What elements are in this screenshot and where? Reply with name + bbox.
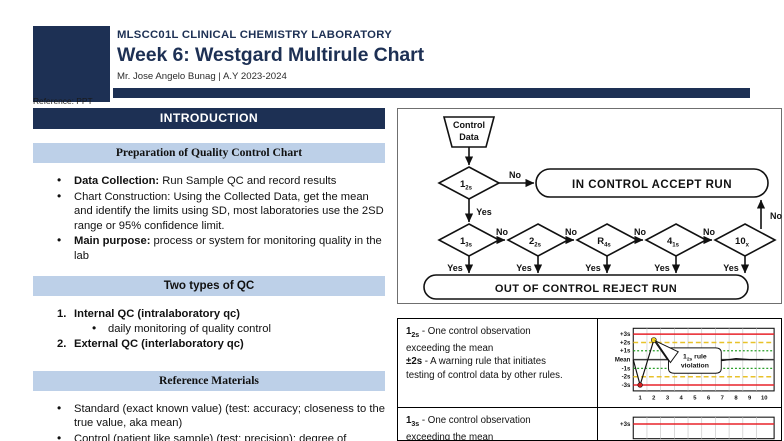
lj-xlabel: 5: [693, 396, 697, 402]
qc-sub-list: daily monitoring of quality control: [74, 322, 385, 337]
header-text-group: MLSCC01L CLINICAL CHEMISTRY LABORATORY W…: [117, 28, 757, 83]
list-item: Data Collection: Run Sample QC and recor…: [33, 174, 385, 189]
lj-svg-1: +3s +2s +1s Mean -1s -2s -3s: [600, 321, 779, 407]
list-item: Main purpose: process or system for moni…: [33, 234, 385, 263]
rule-code: 13s: [406, 415, 419, 426]
lj-ylabel: +3s: [620, 422, 631, 428]
rule-line4: testing of control data by other rules.: [406, 370, 563, 381]
flowchart-svg: Control Data 12s IN CONTROL ACCEPT RUN O…: [398, 109, 783, 305]
reject-run-label: OUT OF CONTROL REJECT RUN: [495, 283, 677, 295]
edge-yes-1: Yes: [476, 207, 492, 217]
lj-xlabel: 6: [707, 396, 711, 402]
header-logo-block: [33, 26, 110, 102]
preparation-list: Data Collection: Run Sample QC and recor…: [33, 174, 385, 264]
list-item: Internal QC (intralaboratory qc) daily m…: [33, 307, 385, 337]
qc-types-list: Internal QC (intralaboratory qc) daily m…: [33, 307, 385, 352]
lj-ylabel: +1s: [620, 349, 631, 355]
reference-note: Reference: PPT: [33, 96, 93, 106]
lj-xlabel: 9: [748, 396, 752, 402]
list-item: Control (patient like sample) (test: pre…: [33, 432, 385, 441]
gate-2-2s: [508, 224, 568, 256]
table-row: 12s - One control observation exceeding …: [398, 319, 781, 408]
lj-xlabel: 8: [734, 396, 738, 402]
control-data-line1: Control: [453, 120, 485, 130]
gate-1-3s: [439, 224, 499, 256]
lj-xlabel: 3: [666, 396, 670, 402]
edge-yes-6: Yes: [723, 263, 739, 273]
list-item: daily monitoring of quality control: [74, 322, 385, 337]
gate-4-1s: [646, 224, 706, 256]
edge-no-3: No: [565, 227, 577, 237]
course-code: MLSCC01L CLINICAL CHEMISTRY LABORATORY: [117, 28, 757, 42]
gate-1-2s: [439, 167, 499, 199]
edge-yes-4: Yes: [585, 263, 601, 273]
rule-line2: exceeding the mean: [406, 432, 493, 441]
edge-no-2: No: [496, 227, 508, 237]
list-item: Standard (exact known value) (test: accu…: [33, 402, 385, 431]
lj-xlabel: 4: [680, 396, 684, 402]
lj-ylabel: -3s: [622, 383, 631, 389]
section-header-introduction: INTRODUCTION: [33, 108, 385, 129]
subsection-header-preparation: Preparation of Quality Control Chart: [33, 143, 385, 163]
lj-svg-2: +3s: [600, 410, 779, 440]
edge-no-6: No: [770, 211, 782, 221]
lj-xlabel: 2: [652, 396, 656, 402]
lj-point-violation-low: [638, 383, 643, 388]
list-item-text: Run Sample QC and record results: [159, 175, 336, 187]
svg-text:violation: violation: [681, 362, 709, 369]
rule-description-1-2s: 12s - One control observation exceeding …: [398, 319, 598, 407]
gate-r-4s: [577, 224, 637, 256]
rule-line2: exceeding the mean: [406, 343, 493, 354]
edge-yes-2: Yes: [447, 263, 463, 273]
reference-materials-list: Standard (exact known value) (test: accu…: [33, 402, 385, 441]
lj-ylabel: +3s: [620, 332, 631, 338]
edge-yes-3: Yes: [516, 263, 532, 273]
lj-xlabel: 10: [761, 396, 768, 402]
westgard-flowchart: Control Data 12s IN CONTROL ACCEPT RUN O…: [397, 108, 782, 304]
edge-no-4: No: [634, 227, 646, 237]
instructor-line: Mr. Jose Angelo Bunag | A.Y 2023-2024: [117, 70, 757, 83]
levey-jennings-chart-1-2s: +3s +2s +1s Mean -1s -2s -3s: [598, 319, 781, 407]
rule-line1: - One control observation: [419, 415, 530, 426]
rule-code: 12s: [406, 326, 419, 337]
list-item-text: Chart Construction: Using the Collected …: [74, 191, 384, 232]
header-divider-bar: [113, 88, 750, 98]
list-item-bold: Main purpose:: [74, 235, 150, 247]
list-item: Chart Construction: Using the Collected …: [33, 190, 385, 234]
slide-page: MLSCC01L CLINICAL CHEMISTRY LABORATORY W…: [0, 0, 784, 441]
qc-type-label: External QC (interlaboratory qc): [74, 338, 244, 350]
lj-xlabel: 7: [721, 396, 724, 402]
lj-point-violation-high: [651, 337, 656, 342]
westgard-rules-table: 12s - One control observation exceeding …: [397, 318, 782, 441]
qc-type-label: Internal QC (intralaboratory qc): [74, 308, 240, 320]
lj-xlabel: 1: [638, 396, 642, 402]
subsection-header-two-types-qc: Two types of QC: [33, 276, 385, 296]
edge-yes-5: Yes: [654, 263, 670, 273]
levey-jennings-chart-1-3s: +3s: [598, 408, 781, 440]
lj-ylabel: -1s: [622, 366, 631, 372]
list-item: External QC (interlaboratory qc): [33, 337, 385, 352]
edge-no-1: No: [509, 170, 521, 180]
lj-ylabel: Mean: [615, 358, 631, 364]
edge-no-5: No: [703, 227, 715, 237]
list-item-bold: Data Collection:: [74, 175, 159, 187]
rule-warning-code: ±2s: [406, 356, 422, 367]
table-row: 13s - One control observation exceeding …: [398, 408, 781, 440]
page-title: Week 6: Westgard Multirule Chart: [117, 43, 757, 67]
control-data-line2: Data: [459, 132, 480, 142]
lj-ylabel: +2s: [620, 340, 631, 346]
accept-run-label: IN CONTROL ACCEPT RUN: [572, 179, 732, 191]
rule-description-1-3s: 13s - One control observation exceeding …: [398, 408, 598, 440]
rule-line1: - One control observation: [419, 326, 530, 337]
lj-ylabel: -2s: [622, 375, 631, 381]
rule-line3: - A warning rule that initiates: [422, 356, 546, 367]
subsection-header-reference-materials: Reference Materials: [33, 371, 385, 391]
left-content-column: INTRODUCTION Preparation of Quality Cont…: [33, 108, 385, 441]
